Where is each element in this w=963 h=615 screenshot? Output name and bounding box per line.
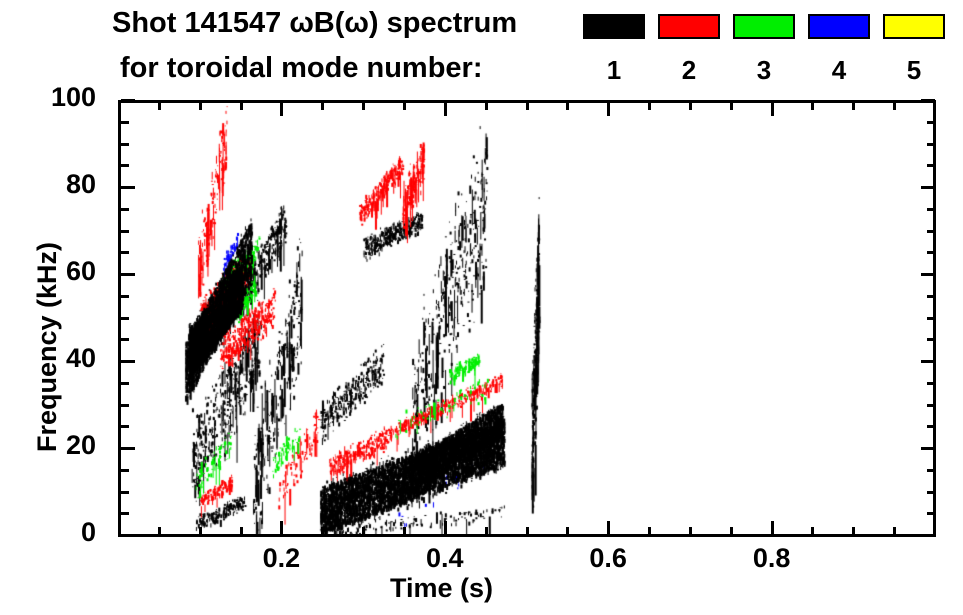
y-tick-minor-right bbox=[927, 295, 935, 298]
y-tick-minor bbox=[121, 164, 129, 167]
x-tick-minor bbox=[240, 527, 243, 534]
x-tick-major-0.4 bbox=[444, 521, 447, 534]
x-tick-minor-top bbox=[158, 103, 161, 110]
x-axis-line bbox=[118, 534, 936, 537]
x-tick-minor bbox=[730, 527, 733, 534]
y-tick-minor-right bbox=[927, 143, 935, 146]
y-tick-major-right-40 bbox=[921, 360, 935, 363]
y-tick-minor-right bbox=[927, 164, 935, 167]
y-axis-label: Frequency (kHz) bbox=[32, 242, 63, 452]
x-tick-major-0.8 bbox=[771, 521, 774, 534]
y-tick-minor-right bbox=[927, 382, 935, 385]
x-tick-minor-top bbox=[526, 103, 529, 110]
x-tick-minor-top bbox=[403, 103, 406, 110]
y-tick-major-0 bbox=[121, 534, 135, 537]
legend: 12345 bbox=[0, 0, 963, 95]
y-tick-minor bbox=[121, 295, 129, 298]
y-tick-minor bbox=[121, 425, 129, 428]
legend-swatch-2 bbox=[658, 14, 720, 39]
x-tick-label-0.8: 0.8 bbox=[712, 543, 832, 574]
x-tick-minor bbox=[811, 527, 814, 534]
legend-swatch-5 bbox=[883, 14, 945, 39]
y-tick-major-40 bbox=[121, 360, 135, 363]
x-tick-minor bbox=[199, 527, 202, 534]
x-tick-minor-top bbox=[566, 103, 569, 110]
x-tick-minor-top bbox=[811, 103, 814, 110]
y-tick-minor-right bbox=[927, 208, 935, 211]
x-tick-major-0.2 bbox=[280, 521, 283, 534]
x-tick-major-top-0.2 bbox=[280, 103, 283, 116]
x-tick-minor bbox=[485, 527, 488, 534]
x-tick-minor-top bbox=[199, 103, 202, 110]
y-tick-label-0: 0 bbox=[0, 517, 96, 548]
y-tick-major-80 bbox=[121, 186, 135, 189]
y-tick-minor-right bbox=[927, 338, 935, 341]
legend-swatch-4 bbox=[808, 14, 870, 39]
y-tick-minor bbox=[121, 143, 129, 146]
x-tick-minor bbox=[362, 527, 365, 534]
spectrogram-canvas bbox=[118, 101, 935, 535]
y-tick-minor bbox=[121, 404, 129, 407]
y-tick-major-100 bbox=[121, 99, 135, 102]
legend-swatch-3 bbox=[733, 14, 795, 39]
x-tick-minor-top bbox=[362, 103, 365, 110]
x-tick-minor bbox=[158, 527, 161, 534]
x-tick-minor bbox=[403, 527, 406, 534]
x-tick-minor-top bbox=[852, 103, 855, 110]
x-tick-minor-top bbox=[893, 103, 896, 110]
y-tick-minor bbox=[121, 121, 129, 124]
y-tick-minor-right bbox=[927, 425, 935, 428]
x-tick-major-top-0.4 bbox=[444, 103, 447, 116]
legend-swatch-1 bbox=[583, 14, 645, 39]
y-tick-minor-right bbox=[927, 491, 935, 494]
x-tick-minor bbox=[689, 527, 692, 534]
x-tick-major-top-0.8 bbox=[771, 103, 774, 116]
y-tick-minor-right bbox=[927, 230, 935, 233]
x-tick-minor-top bbox=[485, 103, 488, 110]
x-tick-minor-top bbox=[689, 103, 692, 110]
x-tick-minor bbox=[566, 527, 569, 534]
spectrogram-figure: Shot 141547 ωB(ω) spectrum for toroidal … bbox=[0, 0, 963, 615]
y-tick-major-60 bbox=[121, 273, 135, 276]
x-tick-minor-top bbox=[730, 103, 733, 110]
y-tick-minor bbox=[121, 469, 129, 472]
x-axis-label: Time (s) bbox=[0, 573, 923, 604]
y-tick-minor bbox=[121, 512, 129, 515]
x-tick-label-0.4: 0.4 bbox=[385, 543, 505, 574]
x-tick-minor bbox=[526, 527, 529, 534]
x-tick-label-0.6: 0.6 bbox=[548, 543, 668, 574]
x-tick-major-top-0.6 bbox=[607, 103, 610, 116]
x-tick-minor bbox=[852, 527, 855, 534]
y-tick-label-100: 100 bbox=[0, 82, 96, 113]
legend-label-5: 5 bbox=[883, 55, 945, 86]
y-tick-minor bbox=[121, 251, 129, 254]
x-tick-minor-top bbox=[321, 103, 324, 110]
x-tick-minor-top bbox=[648, 103, 651, 110]
x-tick-minor bbox=[648, 527, 651, 534]
y-tick-minor bbox=[121, 338, 129, 341]
legend-label-4: 4 bbox=[808, 55, 870, 86]
y-tick-minor bbox=[121, 382, 129, 385]
x-tick-minor-top bbox=[240, 103, 243, 110]
x-tick-minor bbox=[893, 527, 896, 534]
legend-label-2: 2 bbox=[658, 55, 720, 86]
legend-label-3: 3 bbox=[733, 55, 795, 86]
x-tick-minor bbox=[321, 527, 324, 534]
y-tick-minor-right bbox=[927, 469, 935, 472]
y-tick-minor-right bbox=[927, 121, 935, 124]
y-tick-minor-right bbox=[927, 251, 935, 254]
y-tick-major-right-0 bbox=[921, 534, 935, 537]
y-tick-minor-right bbox=[927, 404, 935, 407]
plot-area bbox=[118, 101, 935, 535]
y-tick-major-right-60 bbox=[921, 273, 935, 276]
y-tick-minor-right bbox=[927, 317, 935, 320]
y-tick-minor bbox=[121, 317, 129, 320]
y-tick-minor bbox=[121, 230, 129, 233]
y-tick-major-20 bbox=[121, 447, 135, 450]
x-tick-label-0.2: 0.2 bbox=[221, 543, 341, 574]
y-tick-label-80: 80 bbox=[0, 169, 96, 200]
y-tick-major-right-80 bbox=[921, 186, 935, 189]
y-tick-major-right-20 bbox=[921, 447, 935, 450]
y-tick-minor bbox=[121, 491, 129, 494]
y-tick-major-right-100 bbox=[921, 99, 935, 102]
y-tick-minor-right bbox=[927, 512, 935, 515]
legend-label-1: 1 bbox=[583, 55, 645, 86]
y-tick-minor bbox=[121, 208, 129, 211]
x-tick-major-0.6 bbox=[607, 521, 610, 534]
